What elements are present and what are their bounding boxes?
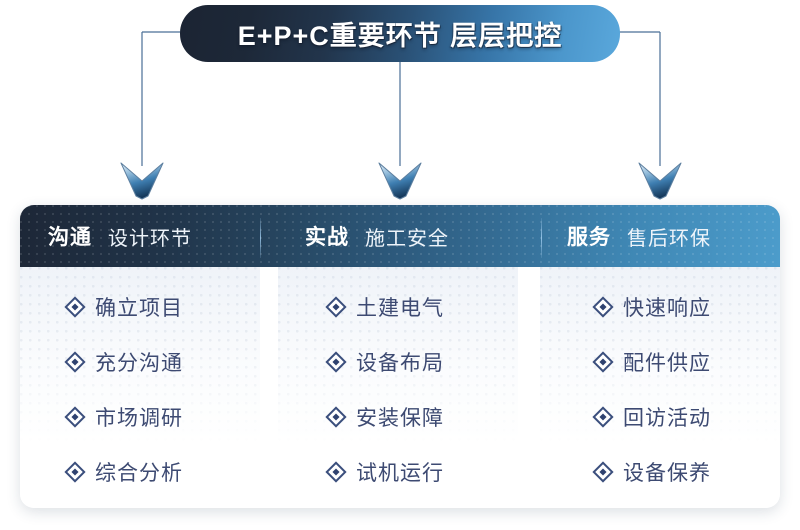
header-column-service[interactable]: 服务 售后环保 — [567, 205, 711, 267]
list-item-label: 快速响应 — [623, 292, 711, 322]
list-item[interactable]: 快速响应 — [595, 279, 780, 334]
body-column-practice: 土建电气 设备布局 安装保障 试机运行 — [278, 267, 518, 508]
list-item[interactable]: 安装保障 — [328, 389, 518, 444]
header-strong-service: 服务 — [567, 221, 611, 251]
diamond-bullet-icon — [67, 409, 82, 424]
diamond-bullet-icon — [595, 464, 610, 479]
item-list-communication: 确立项目 充分沟通 市场调研 综合分析 — [20, 267, 260, 499]
list-item[interactable]: 充分沟通 — [67, 334, 260, 389]
list-item-label: 市场调研 — [95, 402, 183, 432]
list-item-label: 回访活动 — [623, 402, 711, 432]
list-item-label: 土建电气 — [356, 292, 444, 322]
list-item[interactable]: 确立项目 — [67, 279, 260, 334]
list-item-label: 配件供应 — [623, 347, 711, 377]
diamond-bullet-icon — [67, 354, 82, 369]
list-item[interactable]: 配件供应 — [595, 334, 780, 389]
header-divider-1 — [260, 218, 261, 258]
list-item-label: 综合分析 — [95, 457, 183, 487]
body-column-service: 快速响应 配件供应 回访活动 设备保养 — [540, 267, 780, 508]
list-item[interactable]: 回访活动 — [595, 389, 780, 444]
header-column-practice[interactable]: 实战 施工安全 — [305, 205, 449, 267]
list-item[interactable]: 设备保养 — [595, 444, 780, 499]
diamond-bullet-icon — [328, 409, 343, 424]
header-strong-communication: 沟通 — [48, 221, 92, 251]
diamond-bullet-icon — [595, 409, 610, 424]
list-item[interactable]: 试机运行 — [328, 444, 518, 499]
header-sub-practice: 施工安全 — [365, 222, 449, 251]
item-list-practice: 土建电气 设备布局 安装保障 试机运行 — [278, 267, 518, 499]
list-item-label: 设备布局 — [356, 347, 444, 377]
diamond-bullet-icon — [67, 299, 82, 314]
list-item-label: 安装保障 — [356, 402, 444, 432]
header-sub-communication: 设计环节 — [108, 222, 192, 251]
list-item-label: 设备保养 — [623, 457, 711, 487]
header-sub-service: 售后环保 — [627, 222, 711, 251]
list-item-label: 确立项目 — [95, 292, 183, 322]
diamond-bullet-icon — [328, 464, 343, 479]
item-list-service: 快速响应 配件供应 回访活动 设备保养 — [540, 267, 780, 499]
list-item[interactable]: 综合分析 — [67, 444, 260, 499]
main-title-text: E+P+C重要环节 层层把控 — [238, 14, 563, 53]
header-divider-2 — [541, 218, 542, 258]
panel-body: 确立项目 充分沟通 市场调研 综合分析 — [20, 267, 780, 508]
panel-header: 沟通 设计环节 实战 施工安全 服务 售后环保 — [20, 205, 780, 267]
header-column-communication[interactable]: 沟通 设计环节 — [48, 205, 192, 267]
list-item-label: 试机运行 — [356, 457, 444, 487]
list-item[interactable]: 设备布局 — [328, 334, 518, 389]
main-title-banner: E+P+C重要环节 层层把控 — [180, 5, 620, 62]
list-item[interactable]: 市场调研 — [67, 389, 260, 444]
stages-panel: 沟通 设计环节 实战 施工安全 服务 售后环保 确立项 — [20, 205, 780, 508]
infographic-stage: E+P+C重要环节 层层把控 沟通 设计环节 实战 施工安全 服务 售后环保 — [0, 0, 800, 530]
diamond-bullet-icon — [328, 354, 343, 369]
diamond-bullet-icon — [595, 299, 610, 314]
diamond-bullet-icon — [328, 299, 343, 314]
list-item-label: 充分沟通 — [95, 347, 183, 377]
list-item[interactable]: 土建电气 — [328, 279, 518, 334]
body-column-communication: 确立项目 充分沟通 市场调研 综合分析 — [20, 267, 260, 508]
diamond-bullet-icon — [595, 354, 610, 369]
header-strong-practice: 实战 — [305, 221, 349, 251]
diamond-bullet-icon — [67, 464, 82, 479]
